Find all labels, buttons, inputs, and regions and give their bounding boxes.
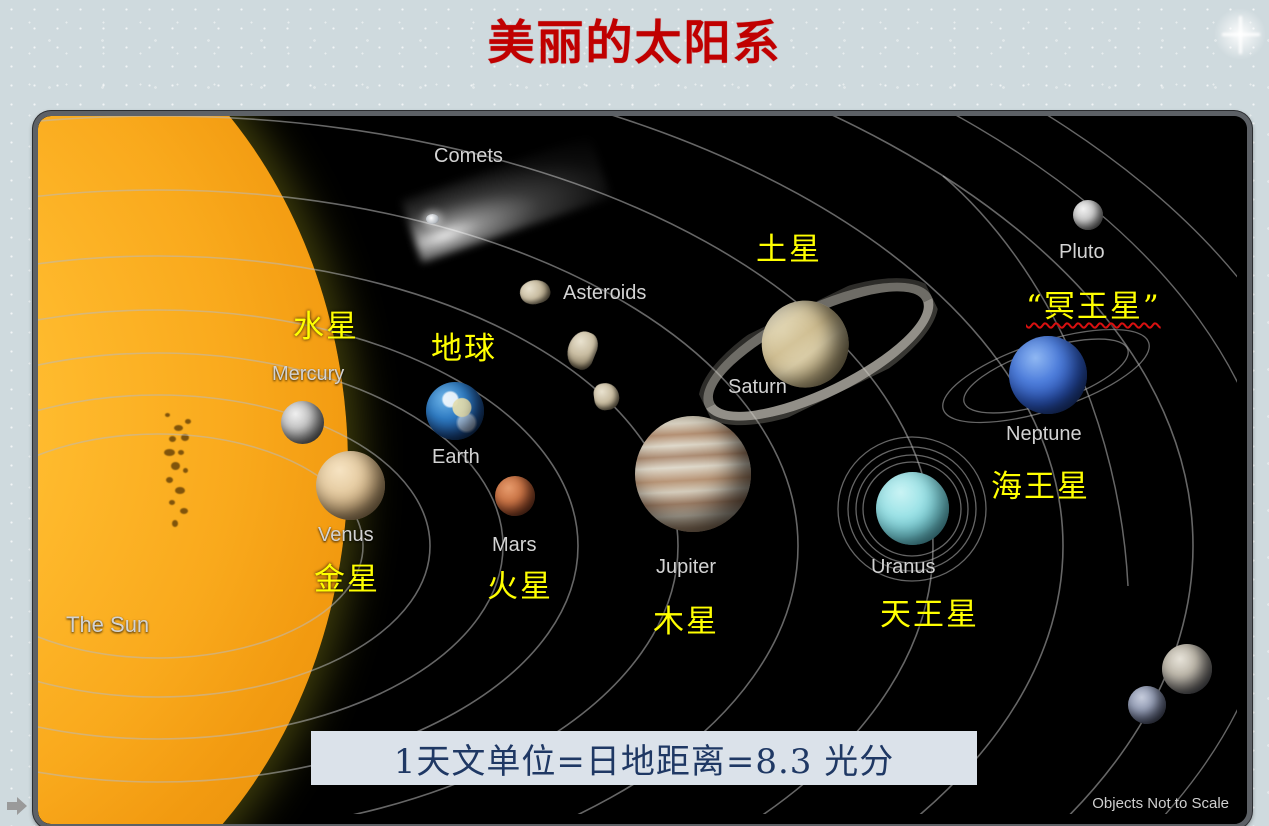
planet-neptune [1009, 336, 1087, 414]
sunspot [171, 462, 180, 470]
label-neptune-cn: 海王星 [991, 461, 1090, 506]
label-pluto-en: Pluto [1059, 241, 1105, 264]
asteroid-rock [517, 276, 552, 307]
label-jupiter-cn: 木星 [653, 596, 719, 641]
planet-mercury [281, 401, 324, 444]
solar-system-image-frame: Comets Asteroids Mercury 水星 Venus 金星 Ear… [33, 111, 1252, 826]
label-mars-en: Mars [492, 534, 536, 557]
sunspot [180, 508, 188, 514]
asteroid-rock [562, 327, 602, 373]
planet-uranus [876, 472, 949, 545]
label-pluto-cn: “冥王星” [1026, 281, 1161, 326]
label-mercury-cn: 水星 [293, 301, 359, 346]
solar-system-diagram: Comets Asteroids Mercury 水星 Venus 金星 Ear… [38, 116, 1247, 824]
sunspot [169, 500, 175, 505]
sunspot [185, 419, 191, 424]
label-the-sun: The Sun [66, 612, 149, 638]
sunspot [174, 425, 183, 431]
label-earth-cn: 地球 [431, 323, 497, 368]
sunspot [181, 434, 189, 441]
sun-body [38, 116, 348, 824]
label-mars-cn: 火星 [487, 561, 553, 606]
sunspot [166, 477, 173, 483]
moon-small [1128, 686, 1166, 724]
page-title: 美丽的太阳系 [0, 17, 1269, 71]
next-slide-arrow-icon[interactable] [5, 796, 29, 816]
planet-mars [495, 476, 535, 516]
label-uranus-en: Uranus [871, 556, 935, 579]
label-asteroids: Asteroids [563, 282, 646, 305]
label-saturn-en: Saturn [728, 376, 787, 399]
label-comets: Comets [434, 145, 503, 168]
label-mercury-en: Mercury [272, 363, 344, 386]
sunspot [175, 487, 185, 494]
label-jupiter-en: Jupiter [656, 556, 716, 579]
label-neptune-en: Neptune [1006, 423, 1082, 446]
sunspot [169, 436, 176, 442]
label-venus-cn: 金星 [314, 554, 380, 599]
sunspot [183, 468, 188, 473]
sunspot [164, 449, 175, 456]
planet-earth [426, 382, 484, 440]
label-uranus-cn: 天王星 [880, 589, 979, 634]
comet-nucleus [426, 214, 439, 224]
planet-venus [316, 451, 385, 520]
planet-pluto [1073, 200, 1103, 230]
caption-box: 1天文单位=日地距离=8.3 光分 [311, 731, 977, 785]
sunspot [178, 450, 184, 455]
label-saturn-cn: 土星 [756, 224, 822, 269]
label-earth-en: Earth [432, 446, 480, 469]
scale-note: Objects Not to Scale [1092, 795, 1229, 812]
sunspot [172, 520, 178, 527]
asteroid-rock [592, 381, 621, 411]
caption-text: 1天文单位=日地距离=8.3 光分 [394, 734, 895, 783]
sunspot [165, 413, 170, 417]
comet-tail [401, 135, 612, 263]
moon-large [1162, 644, 1212, 694]
label-venus-en: Venus [318, 524, 374, 547]
slide: 美丽的太阳系 [0, 0, 1269, 826]
